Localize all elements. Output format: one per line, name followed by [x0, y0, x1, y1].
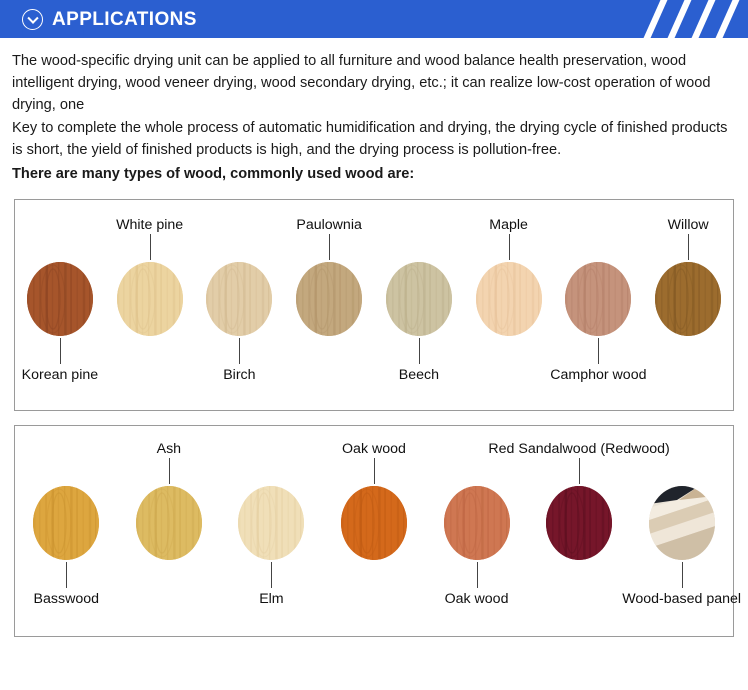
wood-swatch: Maple: [471, 262, 547, 336]
wood-label: Wood-based panel: [622, 592, 741, 606]
intro-paragraph-2: Key to complete the whole process of aut…: [12, 117, 738, 161]
leader-line: [60, 338, 61, 364]
wood-label: Maple: [489, 218, 528, 232]
wood-label: Oak wood: [342, 442, 406, 456]
wood-swatch: White pine: [112, 262, 188, 336]
page-title: APPLICATIONS: [52, 10, 197, 29]
wood-swatch: Korean pine: [22, 262, 98, 336]
wood-sample-disc: [27, 262, 93, 336]
leader-line: [66, 562, 67, 588]
leader-line: [579, 458, 580, 484]
wood-swatch: Wood-based panel: [644, 486, 720, 560]
wood-swatch: Camphor wood: [560, 262, 636, 336]
wood-sample-disc: [206, 262, 272, 336]
wood-label: Camphor wood: [550, 368, 646, 382]
wood-sample-disc: [341, 486, 407, 560]
wood-label: Oak wood: [445, 592, 509, 606]
leader-line: [169, 458, 170, 484]
header-content: APPLICATIONS: [0, 0, 748, 38]
wood-sample-disc: [546, 486, 612, 560]
wood-box-2: BasswoodAshElmOak woodOak woodRed Sandal…: [14, 425, 734, 637]
intro-text-block: The wood-specific drying unit can be app…: [0, 38, 748, 185]
wood-label: Ash: [157, 442, 181, 456]
leader-line: [329, 234, 330, 260]
wood-label: Birch: [223, 368, 255, 382]
wood-swatch-row-2: BasswoodAshElmOak woodOak woodRed Sandal…: [15, 486, 733, 560]
wood-sample-disc: [649, 486, 715, 560]
wood-box-1: Korean pineWhite pineBirchPaulowniaBeech…: [14, 199, 734, 411]
wood-sample-disc: [444, 486, 510, 560]
wood-swatch-row-1: Korean pineWhite pineBirchPaulowniaBeech…: [15, 262, 733, 336]
wood-swatch: Basswood: [28, 486, 104, 560]
wood-label: Willow: [668, 218, 709, 232]
wood-sample-disc: [476, 262, 542, 336]
wood-sample-disc: [117, 262, 183, 336]
intro-paragraph-3: There are many types of wood, commonly u…: [12, 163, 738, 185]
wood-swatch: Paulownia: [291, 262, 367, 336]
wood-label: Paulownia: [296, 218, 361, 232]
chevron-down-circle-icon: [22, 9, 43, 30]
wood-swatch: Oak wood: [336, 486, 412, 560]
wood-sample-disc: [386, 262, 452, 336]
wood-sample-disc: [238, 486, 304, 560]
wood-swatch: Willow: [650, 262, 726, 336]
wood-label: White pine: [116, 218, 183, 232]
wood-swatch: Oak wood: [439, 486, 515, 560]
leader-line: [419, 338, 420, 364]
leader-line: [598, 338, 599, 364]
intro-paragraph-1: The wood-specific drying unit can be app…: [12, 50, 738, 117]
leader-line: [688, 234, 689, 260]
wood-label: Elm: [259, 592, 283, 606]
leader-line: [271, 562, 272, 588]
page-header: APPLICATIONS: [0, 0, 748, 38]
wood-sample-disc: [565, 262, 631, 336]
wood-sample-disc: [136, 486, 202, 560]
leader-line: [682, 562, 683, 588]
leader-line: [150, 234, 151, 260]
wood-swatch: Red Sandalwood (Redwood): [541, 486, 617, 560]
wood-swatch: Ash: [131, 486, 207, 560]
wood-swatch: Elm: [233, 486, 309, 560]
wood-sample-disc: [655, 262, 721, 336]
wood-label: Red Sandalwood (Redwood): [488, 442, 669, 456]
leader-line: [477, 562, 478, 588]
wood-swatch: Birch: [201, 262, 277, 336]
wood-label: Korean pine: [22, 368, 99, 382]
leader-line: [509, 234, 510, 260]
wood-label: Basswood: [34, 592, 99, 606]
wood-label: Beech: [399, 368, 439, 382]
wood-sample-disc: [296, 262, 362, 336]
wood-swatch: Beech: [381, 262, 457, 336]
leader-line: [239, 338, 240, 364]
leader-line: [374, 458, 375, 484]
wood-sample-disc: [33, 486, 99, 560]
